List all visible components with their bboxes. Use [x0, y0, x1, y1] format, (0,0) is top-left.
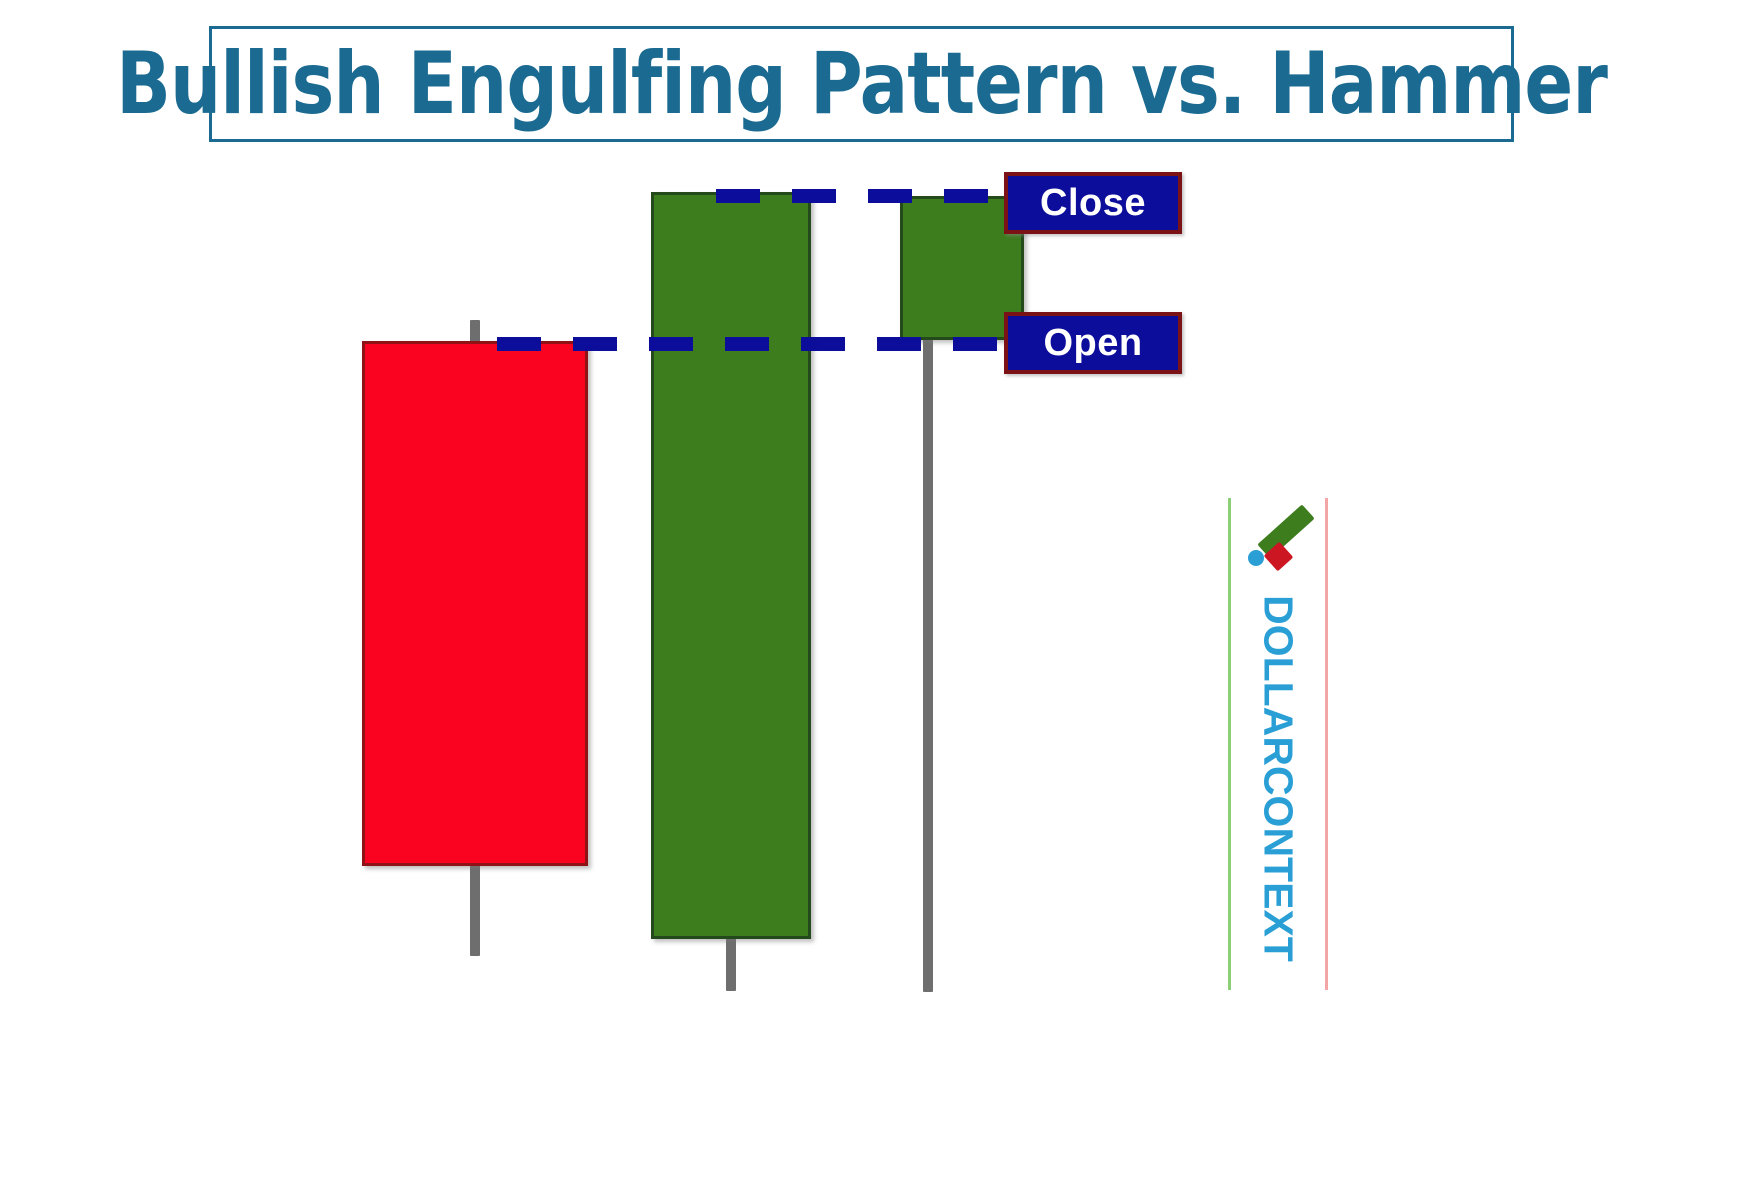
open-label-text: Open: [1043, 324, 1142, 362]
slide-canvas: Bullish Engulfing Pattern vs. Hammer Clo…: [0, 0, 1740, 1200]
logo-rule-left: [1228, 498, 1231, 990]
title-box: Bullish Engulfing Pattern vs. Hammer: [209, 26, 1514, 142]
page-title: Bullish Engulfing Pattern vs. Hammer: [116, 41, 1607, 127]
close-level-line: [716, 189, 1004, 203]
logo-mark-icon: [1242, 506, 1314, 584]
close-label-box[interactable]: Close: [1004, 172, 1182, 234]
logo-wordmark: DOLLARCONTEXT: [1258, 579, 1299, 979]
logo-blue-dot-icon: [1248, 550, 1264, 566]
close-label-text: Close: [1040, 184, 1146, 222]
open-level-line: [497, 337, 1005, 351]
candle-bullish-engulfing-body: [651, 192, 811, 939]
logo[interactable]: DOLLARCONTEXT: [1228, 498, 1328, 990]
open-label-box[interactable]: Open: [1004, 312, 1182, 374]
logo-rule-right: [1325, 498, 1328, 990]
candle-bearish-body: [362, 341, 588, 866]
